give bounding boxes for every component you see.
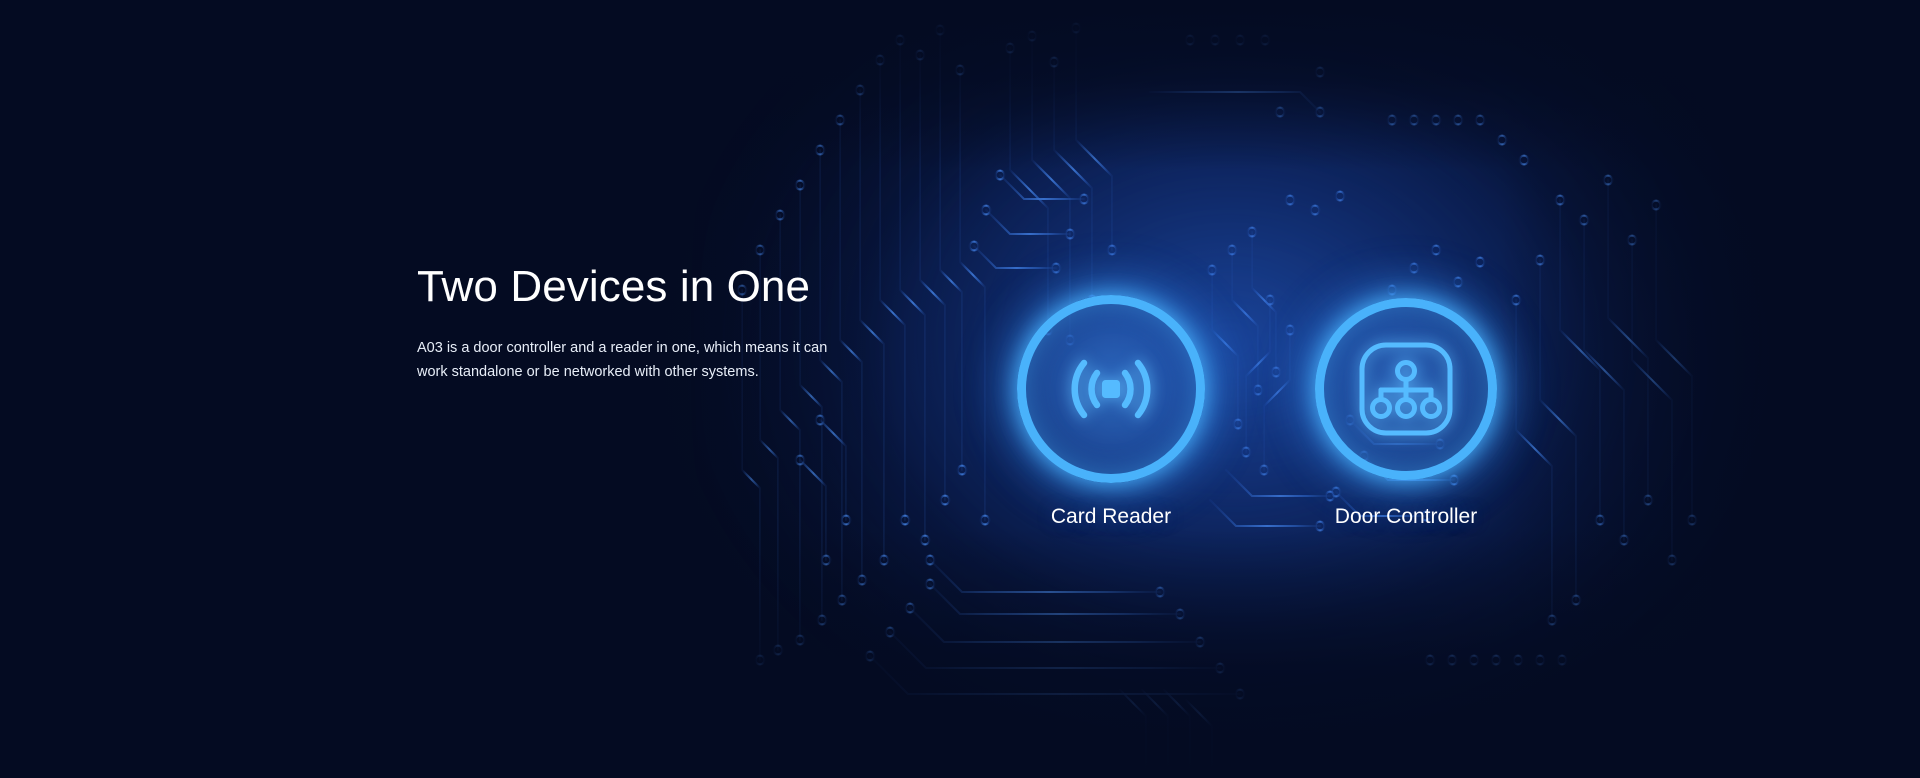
network-tree-icon: [1324, 307, 1488, 471]
fade-left: [0, 0, 900, 778]
page-title: Two Devices in One: [417, 262, 847, 311]
board-center-glow: [700, 0, 1850, 778]
fade-bottom: [0, 528, 1920, 778]
fade-right: [1500, 0, 1920, 778]
door-controller-label: Door Controller: [1315, 505, 1497, 529]
fade-top: [0, 0, 1920, 170]
hero-banner: Two Devices in One A03 is a door control…: [0, 0, 1920, 778]
hero-text-block: Two Devices in One A03 is a door control…: [417, 262, 847, 384]
device-card-reader[interactable]: Card Reader: [1017, 295, 1205, 483]
door-controller-ring-wrap: Door Controller: [1315, 298, 1497, 480]
card-reader-label: Card Reader: [1017, 505, 1205, 529]
hero-description: A03 is a door controller and a reader in…: [417, 337, 829, 384]
rfid-wave-icon: [1026, 304, 1196, 474]
door-controller-ring: [1315, 298, 1497, 480]
circuit-board-background: [0, 0, 1920, 778]
card-reader-ring: [1017, 295, 1205, 483]
circuit-trace-pattern: [0, 0, 1920, 778]
card-reader-ring-wrap: Card Reader: [1017, 295, 1205, 483]
device-door-controller[interactable]: Door Controller: [1315, 298, 1497, 480]
